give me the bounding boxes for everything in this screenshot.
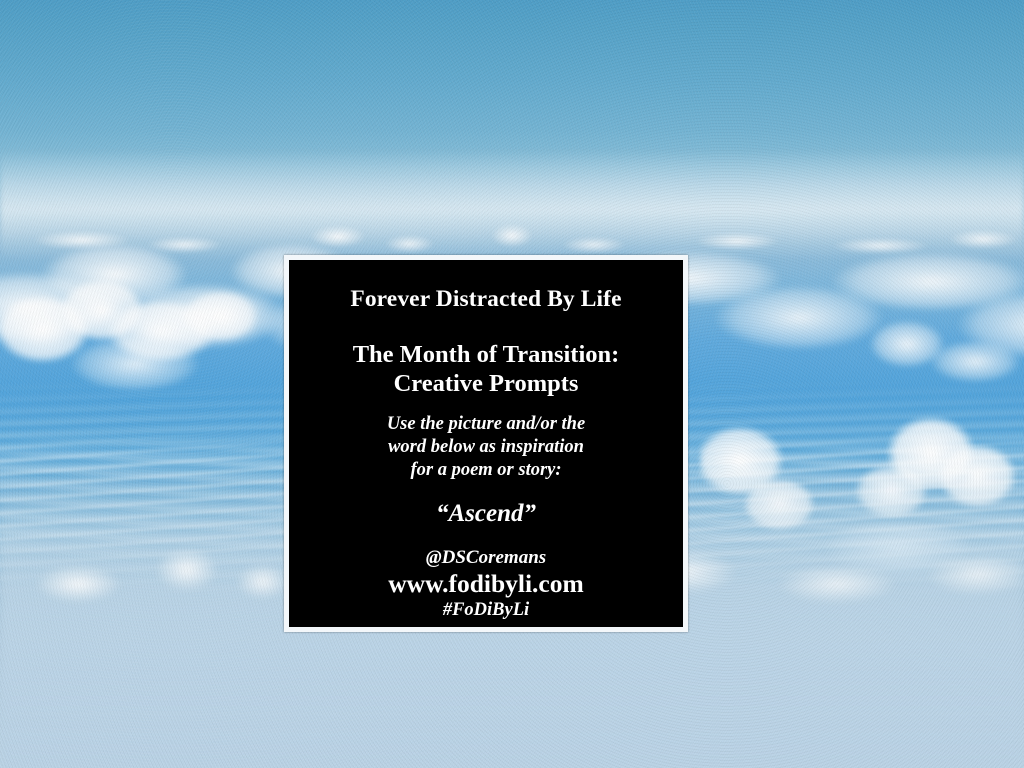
instructions-line-2: word below as inspiration: [307, 436, 665, 459]
spacer-before-credits: [307, 527, 665, 547]
prompt-text-card: Forever Distracted By Life The Month of …: [284, 255, 688, 632]
instructions-line-1: Use the picture and/or the: [307, 413, 665, 436]
hashtag: #FoDiByLi: [307, 600, 665, 621]
slide-canvas: Forever Distracted By Life The Month of …: [0, 0, 1024, 768]
series-title-line-2: Creative Prompts: [307, 370, 665, 399]
cumulus-cloud-right-upper: [850, 300, 1024, 410]
social-handle: @DSCoremans: [307, 547, 665, 569]
instructions-line-3: for a poem or story:: [307, 459, 665, 482]
brand-title: Forever Distracted By Life: [307, 286, 665, 313]
spacer-after-brand-title: [307, 313, 665, 341]
spacer-before-prompt-word: [307, 482, 665, 500]
series-title-line-1: The Month of Transition:: [307, 341, 665, 370]
spacer-after-series-title: [307, 399, 665, 413]
website-url: www.fodibyli.com: [307, 569, 665, 600]
prompt-text-card-inner: Forever Distracted By Life The Month of …: [289, 260, 683, 621]
prompt-word: “Ascend”: [307, 500, 665, 528]
